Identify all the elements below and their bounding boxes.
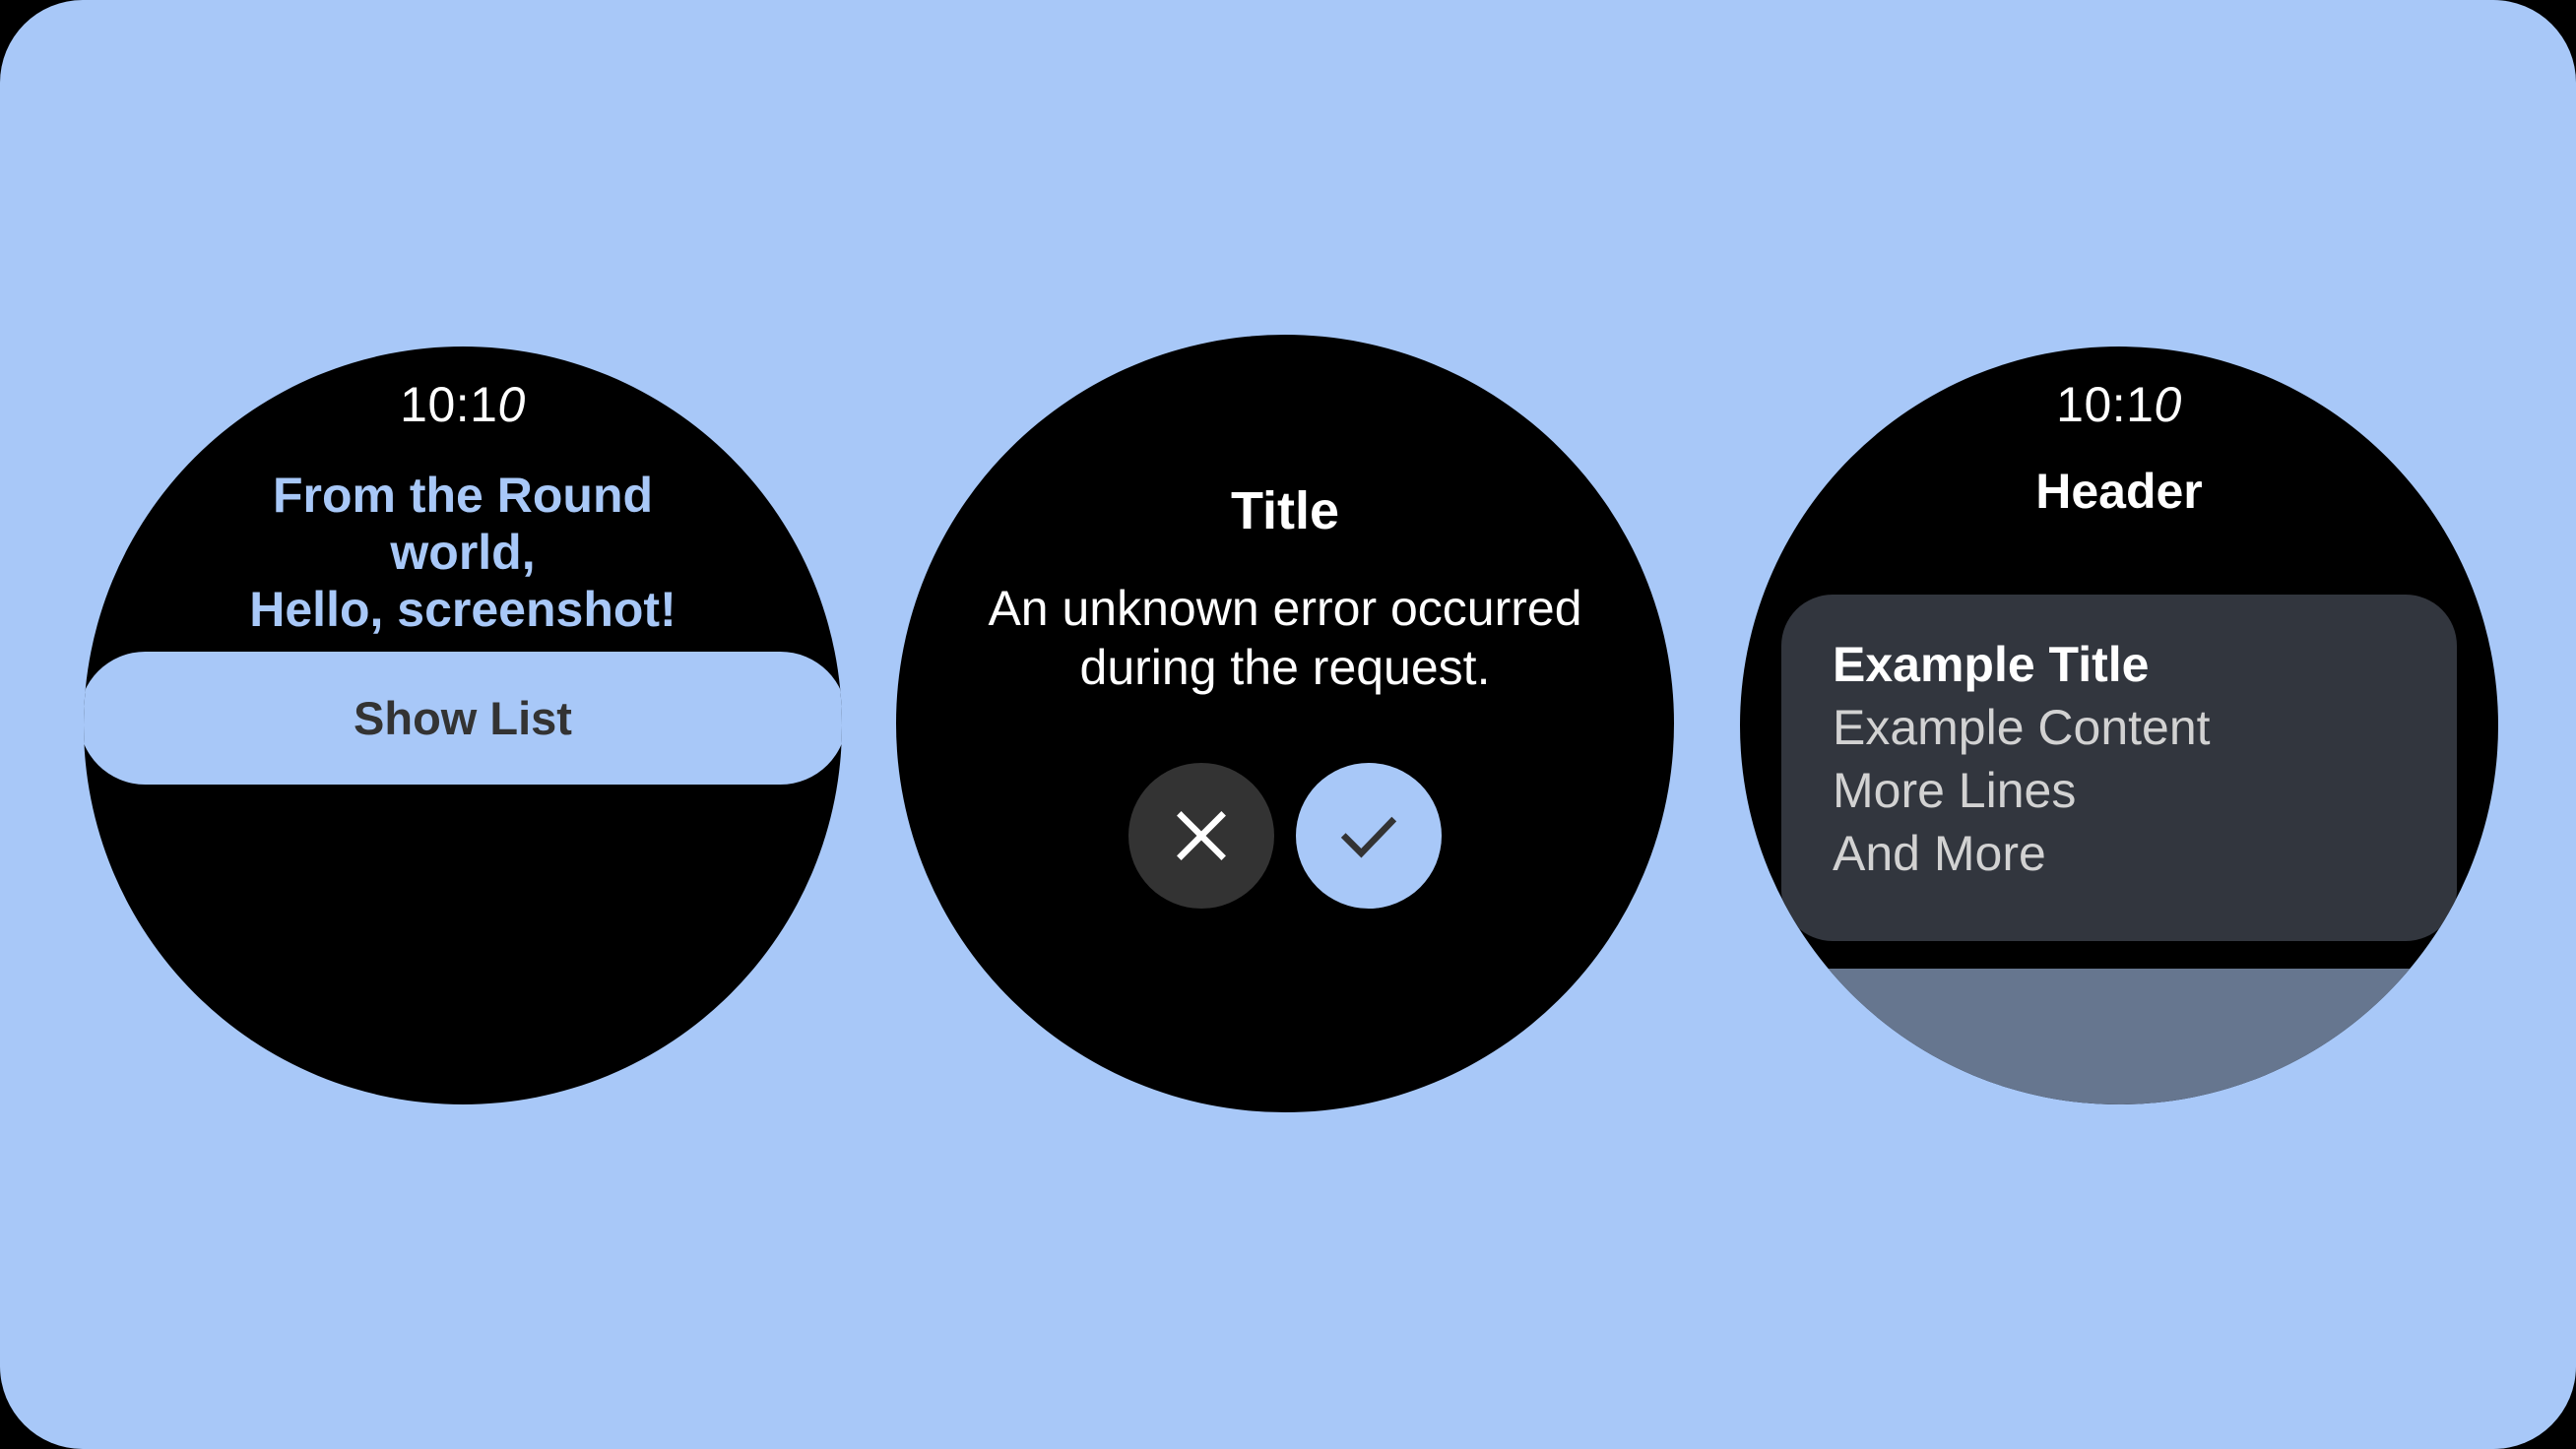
confirm-button[interactable]	[1296, 763, 1442, 909]
greeting-text: From the Round world, Hello, screenshot!	[123, 467, 803, 638]
card-title: Example Title	[1833, 640, 2406, 689]
screenshot-canvas: 10:10 From the Round world, Hello, scree…	[0, 0, 2576, 1449]
list-item-card[interactable]: Example Title Example Content More Lines…	[1781, 595, 2457, 941]
status-time-tail: 0	[2155, 377, 2182, 432]
dialog-message: An unknown error occurred during the req…	[918, 579, 1652, 697]
card-line: More Lines	[1833, 766, 2406, 815]
watch-round-alert-dialog: Title An unknown error occurred during t…	[896, 335, 1674, 1112]
card-line: Example Content	[1833, 703, 2406, 752]
show-list-button[interactable]: Show List	[84, 652, 842, 785]
watch-round-card-list: 10:10 Header Example Title Example Conte…	[1740, 346, 2498, 1104]
status-time-head: 10:1	[2056, 377, 2154, 432]
dismiss-button[interactable]	[1128, 763, 1274, 909]
status-time: 10:10	[1740, 376, 2498, 433]
dialog-title: Title	[926, 480, 1644, 541]
status-time-tail: 0	[498, 377, 526, 432]
page-title: Header	[1770, 463, 2469, 520]
card-line: And More	[1833, 829, 2406, 878]
check-icon	[1331, 798, 1406, 873]
status-time: 10:10	[84, 376, 842, 433]
scroll-background	[1740, 969, 2498, 1104]
watch-round-greeting: 10:10 From the Round world, Hello, scree…	[84, 346, 842, 1104]
close-icon	[1167, 801, 1236, 870]
status-time-head: 10:1	[400, 377, 497, 432]
dialog-actions	[896, 763, 1674, 909]
